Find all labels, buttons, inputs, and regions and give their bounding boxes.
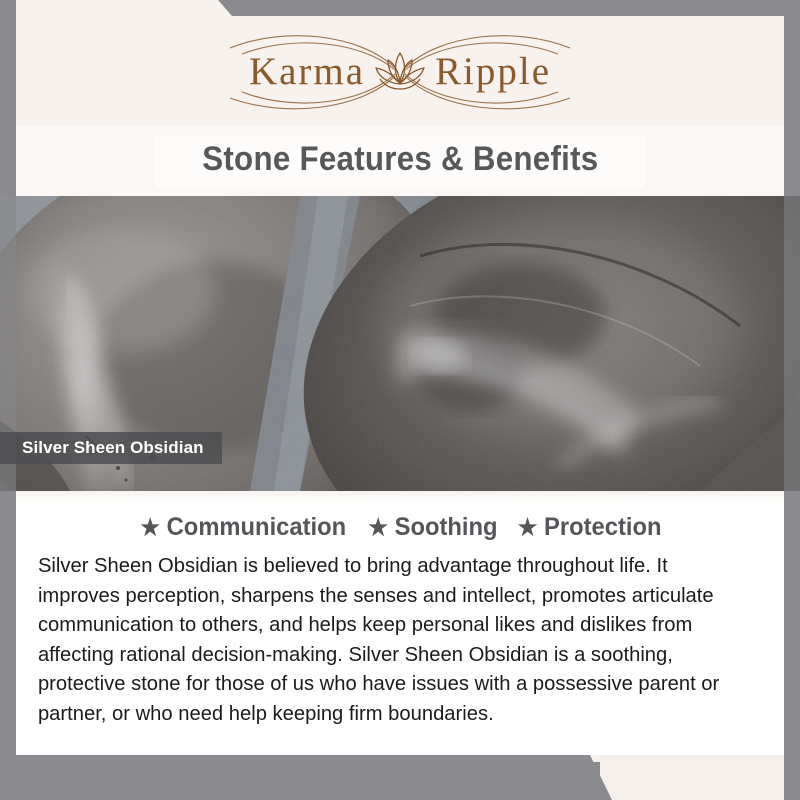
infographic-canvas: Karma Ripple Stone Features & Benefits	[0, 0, 800, 800]
page-title: Stone Features & Benefits	[202, 140, 598, 179]
frame-border-top	[210, 0, 800, 16]
brand-name-left: Karma	[249, 49, 365, 94]
lotus-icon	[371, 49, 429, 93]
benefit-label: Protection	[544, 513, 661, 542]
star-icon: ★	[141, 516, 161, 539]
brand-header: Karma Ripple	[16, 16, 784, 126]
stone-description: Silver Sheen Obsidian is believed to bri…	[34, 551, 755, 728]
star-icon: ★	[368, 516, 388, 539]
benefit-item-communication: ★ Communication	[141, 513, 347, 542]
page-background-foot	[600, 755, 800, 800]
benefit-item-soothing: ★ Soothing	[368, 513, 497, 542]
stone-photo: Silver Sheen Obsidian	[0, 196, 800, 491]
title-plate: Stone Features & Benefits	[155, 136, 646, 187]
brand-logo: Karma Ripple	[190, 28, 610, 114]
frame-border-bottom	[0, 755, 612, 800]
photo-caption-bar: Silver Sheen Obsidian	[0, 432, 222, 464]
title-band: Stone Features & Benefits	[16, 126, 784, 196]
star-icon: ★	[517, 516, 537, 539]
benefits-list: ★ Communication ★ Soothing ★ Protection	[34, 513, 766, 542]
content-card: ★ Communication ★ Soothing ★ Protection …	[16, 491, 784, 755]
benefit-label: Soothing	[394, 513, 497, 542]
photo-frame-overlay-right	[784, 196, 800, 491]
benefit-label: Communication	[167, 513, 346, 542]
brand-name-right: Ripple	[435, 49, 551, 94]
photo-caption-text: Silver Sheen Obsidian	[22, 438, 204, 458]
benefit-item-protection: ★ Protection	[517, 513, 661, 542]
brand-wordmark: Karma Ripple	[249, 49, 551, 94]
